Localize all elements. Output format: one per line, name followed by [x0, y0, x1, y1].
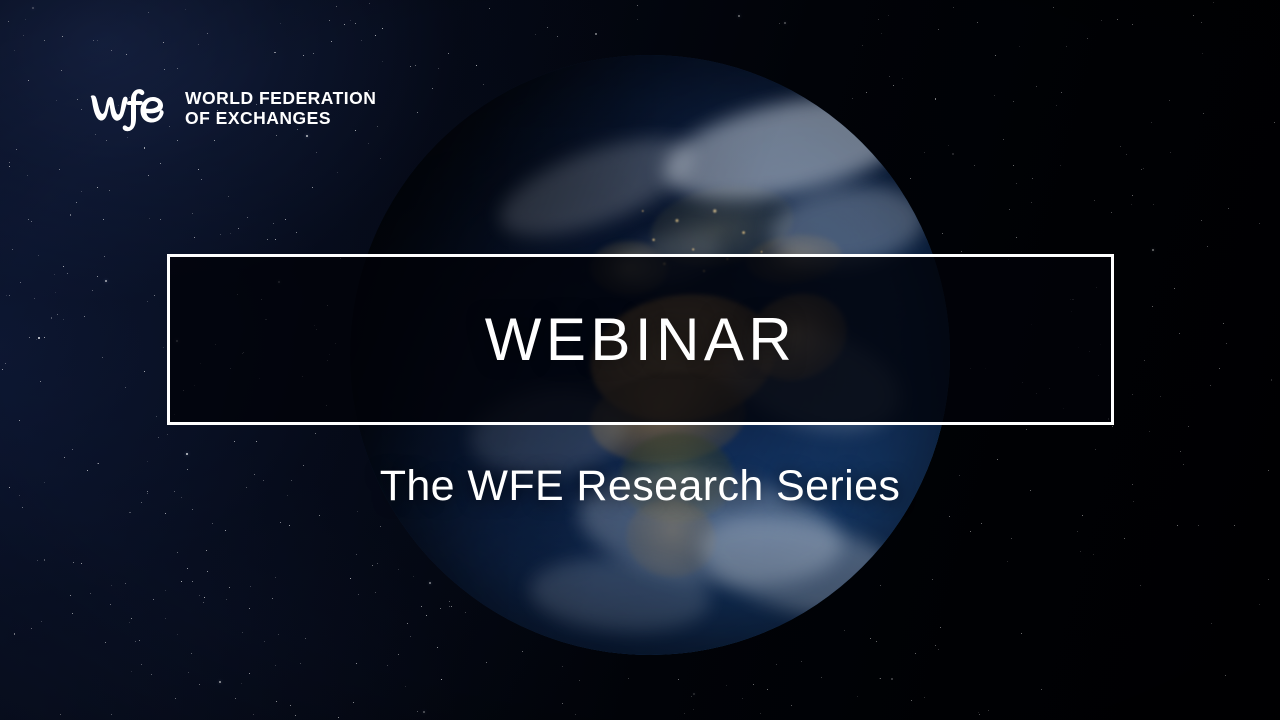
webinar-title-slide: WORLD FEDERATION OF EXCHANGES WEBINAR Th…: [0, 0, 1280, 720]
wfe-monogram-icon: [88, 82, 172, 134]
logo-line-1: WORLD FEDERATION: [185, 88, 376, 108]
wfe-logo-text: WORLD FEDERATION OF EXCHANGES: [185, 88, 376, 129]
webinar-banner-box: WEBINAR: [167, 254, 1114, 425]
series-subtitle: The WFE Research Series: [0, 463, 1280, 510]
banner-title: WEBINAR: [485, 310, 797, 370]
logo-line-2: OF EXCHANGES: [185, 108, 376, 128]
wfe-logo: WORLD FEDERATION OF EXCHANGES: [88, 82, 376, 134]
